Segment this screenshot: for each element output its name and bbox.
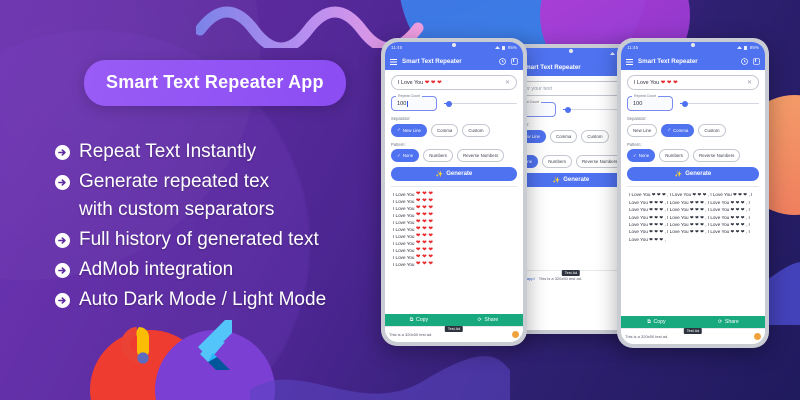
saved-list-icon[interactable] [753,58,760,65]
pattern-chip-reverse-numbers[interactable]: Reverse Numbers [457,149,504,162]
text-input-field[interactable]: I Love You ❤ ❤ ❤ ✕ [627,75,759,90]
heart-emoji: ❤ ❤ ❤ [416,212,433,219]
camera-notch [569,49,573,53]
list-item: Generate repeated tex with custom separa… [55,168,385,224]
separator-chip-custom[interactable]: Custom [581,130,608,143]
arrow-right-circle-icon [55,233,70,248]
phone-mockup-right: 11:45 95% Smart Text Repeater [617,38,769,348]
heart-emoji: ❤ ❤ ❤ [416,247,433,254]
ad-banner[interactable]: Test Ad This is a 320x50 test ad. [385,326,523,342]
chip-label: Comma [437,128,452,133]
pattern-label: Pattern: [391,142,517,147]
copy-icon: ⧉ [410,317,414,324]
result-line: I Love You❤ ❤ ❤ [393,212,515,219]
repeat-count-row: Repeat Count [510,102,632,117]
battery-percent: 95% [750,45,759,50]
separator-chip-row: New Line ✓Comma Custom [627,124,759,137]
share-icon: ⟳ [718,319,722,325]
status-time: 11:45 [627,45,638,50]
chip-label: Numbers [429,153,447,158]
heart-emoji: ❤ ❤ ❤ [416,261,433,268]
feature-label: AdMob integration [79,256,233,284]
ad-badge: Test Ad [684,328,702,334]
result-line: I Love You❤ ❤ ❤ [393,247,515,254]
chip-label: New Line [633,128,651,133]
share-button-label: Share [725,319,739,325]
repeat-count-row: Repeat Count 100 [391,96,517,111]
status-indicators: 95% [495,45,517,50]
phone-mockup-left: 11:45 95% Smart Text Repeater [381,38,527,346]
result-text-area[interactable]: I Love You❤ ❤ ❤I Love You❤ ❤ ❤I Love You… [391,186,517,268]
check-icon: ✓ [397,127,401,133]
pattern-chip-none[interactable]: ✓None [391,149,419,162]
app-bar-title: Smart Text Repeater [402,58,494,65]
result-line: I Love You❤ ❤ ❤ [393,219,515,226]
copy-icon: ⧉ [647,319,651,326]
hamburger-menu-icon[interactable] [390,59,397,65]
magic-wand-icon: ✨ [675,171,682,178]
result-line-text: I Love You [393,254,414,261]
pattern-chip-none[interactable]: ✓None [627,149,655,162]
pattern-chip-numbers[interactable]: Numbers [542,155,572,168]
battery-icon [502,46,506,50]
chip-label: Custom [704,128,719,133]
generate-button[interactable]: ✨ Generate [510,173,632,187]
heart-emoji: ❤ ❤ ❤ [416,219,433,226]
history-clock-icon[interactable] [741,58,748,65]
feature-label: Full history of generated text [79,226,319,254]
result-line-text: I Love You [393,240,414,247]
heart-emoji: ❤ ❤ ❤ [416,191,433,198]
heart-emoji: ❤ ❤ ❤ [661,80,678,86]
chip-label: Numbers [548,159,566,164]
result-line-text: I Love You [393,205,414,212]
arrow-right-circle-icon [55,263,70,278]
pattern-chip-reverse-numbers[interactable]: Reverse Numbers [693,149,740,162]
heart-emoji: ❤ ❤ ❤ [416,233,433,240]
result-line: I Love You❤ ❤ ❤ [393,254,515,261]
heart-emoji: ❤ ❤ ❤ [416,254,433,261]
ad-badge: Test Ad [562,270,580,276]
generate-button[interactable]: ✨ Generate [627,167,759,181]
repeat-count-label: Repeat Count [632,94,658,98]
separator-chip-row: ✓New Line Comma Custom [391,124,517,137]
pattern-chip-row: ✓None Numbers Reverse Numbers [391,149,517,162]
magic-wand-icon: ✨ [553,177,560,184]
pattern-chip-numbers[interactable]: Numbers [659,149,689,162]
feature-label: Auto Dark Mode / Light Mode [79,286,326,314]
feature-label: Generate repeated tex with custom separa… [79,168,274,224]
text-input-value: I Love You ❤ ❤ ❤ [634,80,678,86]
generate-button-label: Generate [446,171,472,177]
input-text: I Love You [398,80,423,86]
separator-chip-comma[interactable]: ✓Comma [661,124,694,137]
chip-label: Reverse Numbers [582,159,617,164]
separator-label: Separator: [510,122,632,127]
chip-label: Reverse Numbers [463,153,498,158]
share-button[interactable]: ⟳ Share [478,317,499,323]
list-item: AdMob integration [55,256,385,284]
arrow-right-circle-icon [55,293,70,308]
history-clock-icon[interactable] [499,58,506,65]
result-line: I Love You❤ ❤ ❤ [393,240,515,247]
result-line-text: I Love You [393,261,414,268]
status-time: 11:45 [391,45,402,50]
result-line-text: I Love You [393,191,414,198]
phone-screen: 11:45 95% Smart Text Repeater [621,42,765,344]
technology-logos [108,318,232,372]
share-icon: ⟳ [478,317,482,323]
heart-emoji: ❤ ❤ ❤ [416,240,433,247]
arrow-right-circle-icon [55,175,70,190]
ad-badge: Test Ad [445,326,463,332]
status-bar: 11:45 95% [621,42,765,53]
generate-button-label: Generate [563,177,589,183]
action-bar: ⧉ Copy ⟳ Share [385,314,523,326]
check-icon: ✓ [633,153,637,159]
feature-list: Repeat Text Instantly Generate repeated … [55,138,385,316]
result-line-text: I Love You [393,219,414,226]
chip-label: Numbers [665,153,683,158]
ad-text: This is a 320x50 test ad. [539,276,582,281]
action-bar: ⧉ Copy ⟳ Share [621,316,765,328]
result-line-text: I Love You [393,233,414,240]
separator-chip-new-line[interactable]: New Line [627,124,657,137]
separator-chip-comma[interactable]: Comma [550,130,577,143]
phone-screen: 11:45 95% Smart Text Repeater [385,42,523,342]
check-icon: ✓ [397,153,401,159]
share-button-label: Share [484,317,498,323]
repeat-count-value: 100 [397,101,406,107]
repeat-count-slider[interactable] [680,99,759,108]
app-bar-title: Smart Text Repeater [521,64,621,71]
heart-emoji: ❤ ❤ ❤ [425,80,442,86]
chip-label: Comma [673,128,688,133]
repeat-count-label: Repeat Count [396,94,422,98]
pattern-label: Pattern: [627,142,759,147]
chip-label: Reverse Numbers [699,153,734,158]
chip-label: None [403,153,414,158]
list-item: Auto Dark Mode / Light Mode [55,286,385,314]
result-line: I Love You❤ ❤ ❤ [393,191,515,198]
repeat-count-slider[interactable] [444,99,517,108]
slider-thumb[interactable] [446,101,452,107]
app-bar: Smart Text Repeater [621,53,765,70]
hamburger-menu-icon[interactable] [626,59,633,65]
wifi-icon [610,52,615,56]
pattern-label: Pattern: [510,148,632,153]
slider-thumb[interactable] [682,101,688,107]
page-title: Smart Text Repeater App [84,60,346,106]
heart-emoji: ❤ ❤ ❤ [416,226,433,233]
input-text: I Love You [634,80,659,86]
separator-chip-row: ✓New Line Comma Custom [510,130,632,143]
heart-emoji: ❤ ❤ ❤ [416,205,433,212]
share-button[interactable]: ⟳ Share [718,319,739,325]
result-line: I Love You❤ ❤ ❤ [393,198,515,205]
result-line-text: I Love You [393,212,414,219]
repeat-count-input[interactable]: Repeat Count 100 [627,96,673,111]
result-line: I Love You❤ ❤ ❤ [393,205,515,212]
text-input-field[interactable]: I Love You ❤ ❤ ❤ ✕ [391,75,517,90]
pattern-chip-row: ✓None Numbers Reverse Numbers [510,155,632,168]
generate-button[interactable]: ✨ Generate [391,167,517,181]
heart-emoji: ❤ ❤ ❤ [416,198,433,205]
copy-button[interactable]: ⧉ Copy [410,317,428,324]
generate-button-label: Generate [685,171,711,177]
status-indicators: 95% [737,45,759,50]
copy-button[interactable]: ⧉ Copy [647,319,665,326]
copy-button-label: Copy [653,319,665,325]
copy-button-label: Copy [416,317,428,323]
ad-banner[interactable]: Test Ad This is a 320x50 test ad. [621,328,765,344]
chip-label: None [639,153,650,158]
camera-notch [452,43,456,47]
close-x-icon[interactable]: ✕ [505,79,510,86]
result-line-text: I Love You [393,198,414,205]
magic-wand-icon: ✨ [436,171,443,178]
result-line: I Love You❤ ❤ ❤ [393,226,515,233]
app-body: I Love You ❤ ❤ ❤ ✕ Repeat Count 100 [385,70,523,314]
promo-banner: Smart Text Repeater App Repeat Text Inst… [0,0,800,400]
slider-track [680,103,759,104]
app-bar: Smart Text Repeater [385,53,523,70]
repeat-count-input[interactable]: Repeat Count 100 [391,96,437,111]
app-bar-title: Smart Text Repeater [638,58,736,65]
chip-label: Custom [468,128,483,133]
separator-label: Separator: [627,116,759,121]
ad-thumbnail [754,333,761,340]
ad-text: This is a 320x50 test ad. [389,332,432,337]
text-input-field[interactable]: Enter your text [510,81,632,96]
app-body: I Love You ❤ ❤ ❤ ✕ Repeat Count 100 [621,70,765,316]
ad-content: This is a 320x50 test ad. [385,331,523,338]
text-caret [407,101,408,107]
repeat-count-row: Repeat Count 100 [627,96,759,111]
ad-content: This is a 320x50 test ad. [621,333,765,340]
result-line: I Love You❤ ❤ ❤ [393,233,515,240]
text-input-value: I Love You ❤ ❤ ❤ [398,80,442,86]
result-line-text: I Love You [393,247,414,254]
flutter-logo [184,318,232,372]
wifi-icon [737,46,742,50]
ad-text: This is a 320x50 test ad. [625,334,668,339]
result-line-text: I Love You [393,226,414,233]
admob-logo [108,318,162,372]
slider-thumb[interactable] [565,107,571,113]
chip-label: New Line [403,128,421,133]
separator-chip-comma[interactable]: Comma [431,124,458,137]
chip-label: Comma [556,134,571,139]
check-icon: ✓ [667,127,671,133]
result-text-area[interactable]: I Love You ❤ ❤ ❤ , I Love You ❤ ❤ ❤ , I … [627,186,759,243]
separator-chip-custom[interactable]: Custom [698,124,725,137]
result-line: I Love You❤ ❤ ❤ [393,261,515,268]
separator-chip-custom[interactable]: Custom [462,124,489,137]
wifi-icon [495,46,500,50]
pattern-chip-numbers[interactable]: Numbers [423,149,453,162]
battery-icon [744,46,748,50]
saved-list-icon[interactable] [511,58,518,65]
close-x-icon[interactable]: ✕ [747,79,752,86]
separator-label: Separator: [391,116,517,121]
chip-label: Custom [587,134,602,139]
list-item: Repeat Text Instantly [55,138,385,166]
feature-label: Repeat Text Instantly [79,138,256,166]
pattern-chip-row: ✓None Numbers Reverse Numbers [627,149,759,162]
left-content-panel: Smart Text Repeater App Repeat Text Inst… [0,0,380,400]
camera-notch [691,43,695,47]
separator-chip-new-line[interactable]: ✓New Line [391,124,427,137]
battery-percent: 95% [508,45,517,50]
repeat-count-value: 100 [633,101,642,107]
ad-thumbnail [512,331,519,338]
list-item: Full history of generated text [55,226,385,254]
status-bar: 11:45 95% [385,42,523,53]
arrow-right-circle-icon [55,145,70,160]
slider-track [444,103,517,104]
